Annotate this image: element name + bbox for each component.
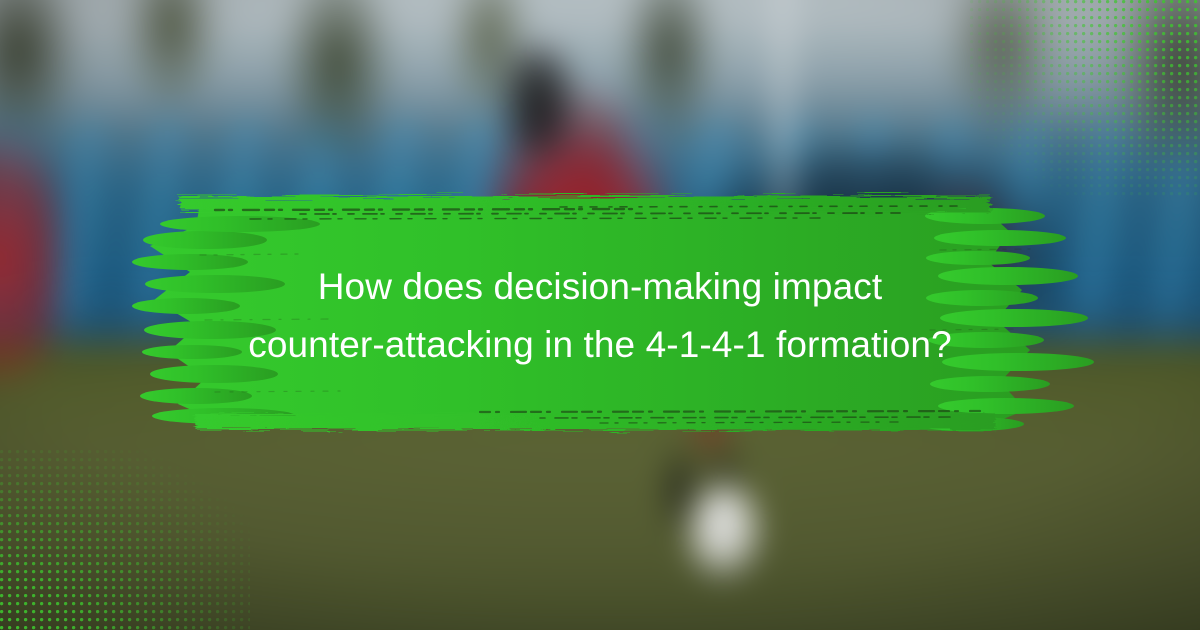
card-headline: How does decision-making impact counter-…: [180, 258, 1020, 374]
share-card: How does decision-making impact counter-…: [0, 0, 1200, 630]
